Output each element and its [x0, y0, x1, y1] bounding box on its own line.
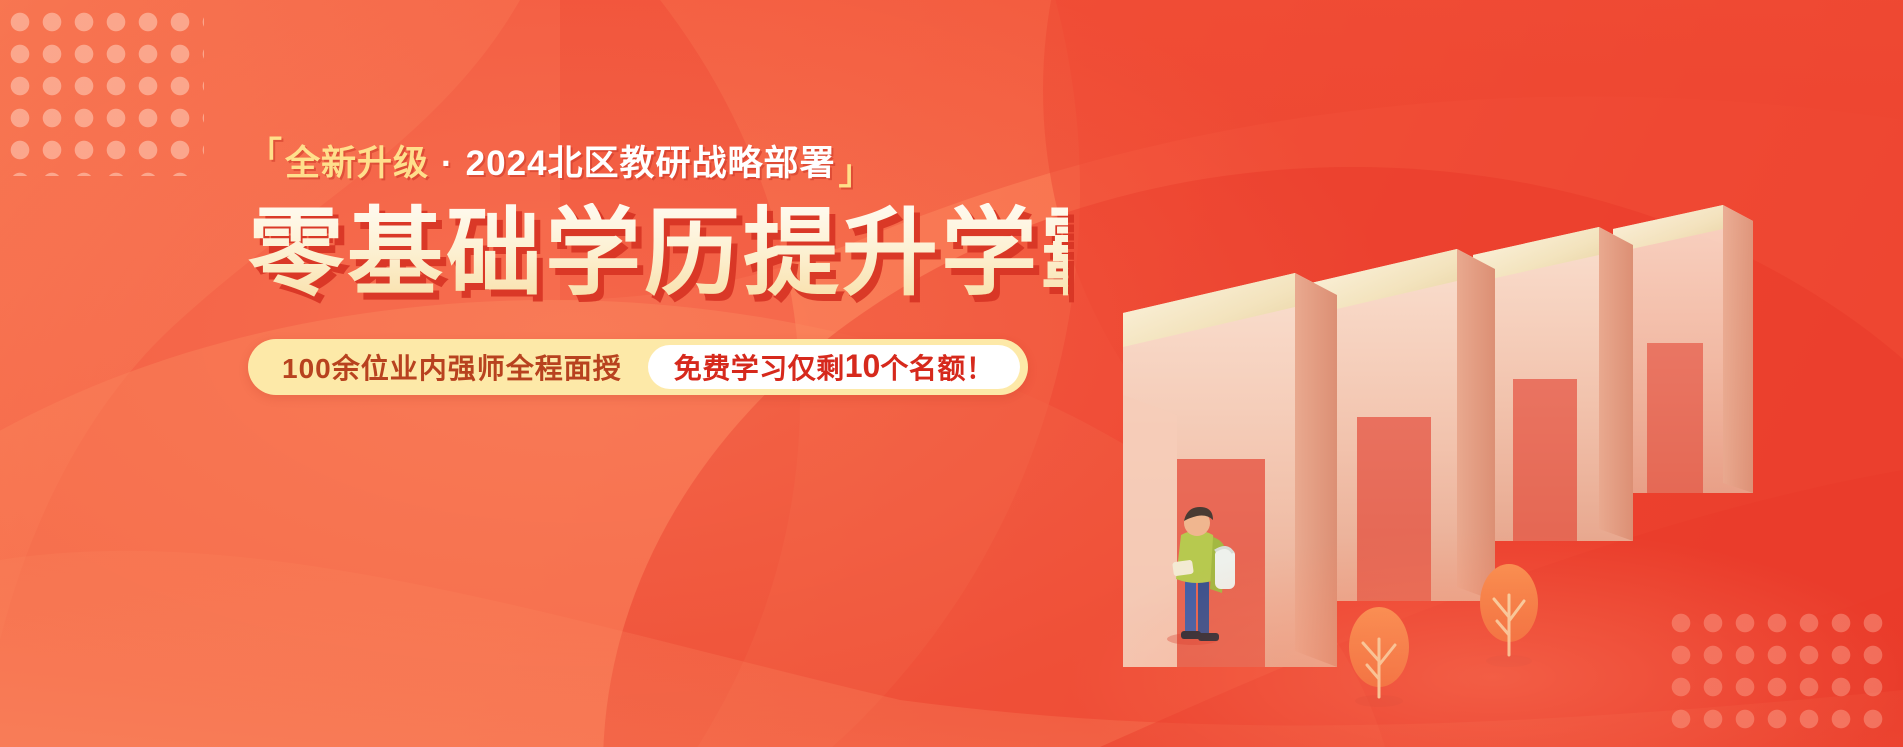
bracket-open: 「 [248, 138, 283, 172]
arch-4 [1613, 205, 1753, 493]
eyebrow-separator: · [441, 146, 454, 181]
offer-pill[interactable]: 100余位业内强师全程面授 免费学习仅剩 10 个名额！ [248, 339, 1028, 395]
pill-right-number: 10 [845, 348, 881, 385]
pill-right-prefix: 免费学习仅剩 [674, 347, 845, 387]
dot-pattern-top-left [4, 6, 204, 176]
pill-left-label: 100余位业内强师全程面授 [282, 347, 648, 387]
bracket-close: 」 [839, 156, 874, 190]
page-title: 零基础学历提升学霸班 [248, 203, 1068, 305]
ground-glow [1063, 527, 1903, 747]
eyebrow-line: 「 全新升级 · 2024北区教研战略部署 」 [248, 146, 1068, 181]
eyebrow-white-text: 2024北区教研战略部署 [466, 146, 836, 181]
arch-3 [1473, 227, 1633, 541]
pill-right-badge: 免费学习仅剩 10 个名额！ [648, 345, 1021, 389]
banner-text-block: 「 全新升级 · 2024北区教研战略部署 」 零基础学历提升学霸班 100余位… [248, 146, 1068, 395]
eyebrow-gold-text: 全新升级 [285, 146, 429, 181]
pill-right-suffix: 个名额！ [880, 347, 994, 387]
promo-banner: 「 全新升级 · 2024北区教研战略部署 」 零基础学历提升学霸班 100余位… [0, 0, 1903, 747]
